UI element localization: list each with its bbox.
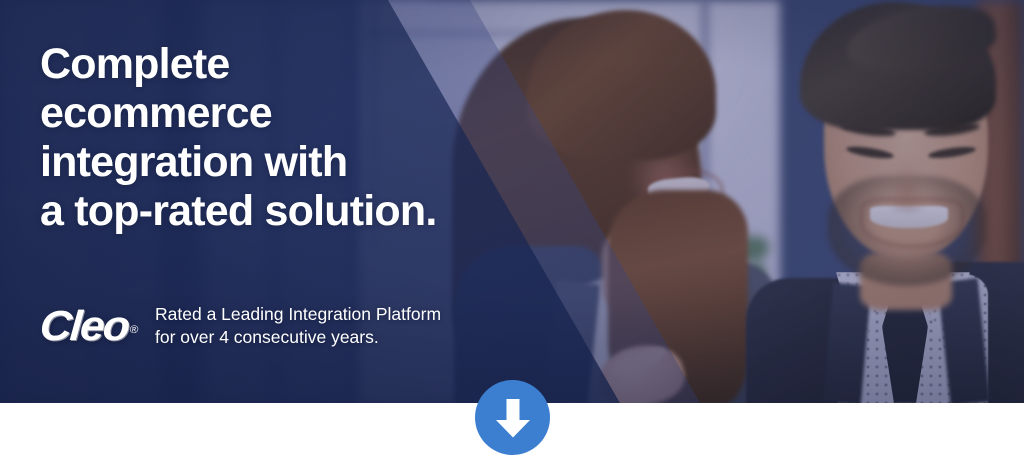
brand-lockup: Cleo® Rated a Leading Integration Platfo… [40,303,441,349]
headline: Complete ecommerce integration with a to… [40,40,510,236]
hero-image: Complete ecommerce integration with a to… [0,0,1024,403]
cleo-logo-text: Cleo [38,302,129,349]
download-arrow-icon [493,396,533,440]
download-button[interactable] [475,380,550,455]
copy-block: Complete ecommerce integration with a to… [40,40,510,236]
tagline: Rated a Leading Integration Platform for… [155,303,441,349]
banner-root: Complete ecommerce integration with a to… [0,0,1024,465]
cleo-logo[interactable]: Cleo® [38,304,135,348]
registered-trademark-icon: ® [128,308,140,352]
